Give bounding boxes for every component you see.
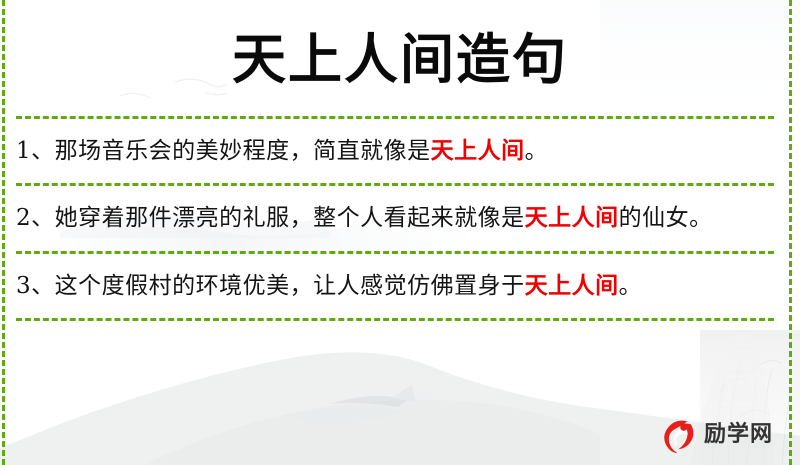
item-text-after: 。 [525, 138, 549, 164]
item-text-before: 她穿着那件漂亮的礼服，整个人看起来就像是 [55, 205, 525, 231]
item-keyword: 天上人间 [525, 272, 619, 299]
item-number: 1、 [16, 138, 55, 164]
sentence-list: 1、那场音乐会的美妙程度，简直就像是天上人间。 2、她穿着那件漂亮的礼服，整个人… [16, 116, 774, 321]
item-text-after: 。 [619, 273, 643, 299]
item-text-before: 这个度假村的环境优美，让人感觉仿佛置身于 [55, 273, 525, 299]
list-item: 2、她穿着那件漂亮的礼服，整个人看起来就像是天上人间的仙女。 [16, 186, 774, 250]
item-number: 3、 [16, 273, 55, 299]
site-name: 励学网 [704, 424, 773, 446]
flame-swirl-logo-icon [660, 416, 698, 454]
list-item: 1、那场音乐会的美妙程度，简直就像是天上人间。 [16, 119, 774, 183]
item-keyword: 天上人间 [525, 204, 619, 231]
item-text-before: 那场音乐会的美妙程度，简直就像是 [55, 138, 431, 164]
title-band: 天上人间造句 [0, 16, 800, 102]
item-number: 2、 [16, 205, 55, 231]
item-text-after: 的仙女。 [619, 205, 713, 231]
list-item: 3、这个度假村的环境优美，让人感觉仿佛置身于天上人间。 [16, 254, 774, 318]
item-keyword: 天上人间 [431, 137, 525, 164]
site-watermark: 励学网 [660, 416, 773, 454]
separator-bottom [16, 318, 774, 321]
page-title: 天上人间造句 [232, 32, 568, 86]
sentence-example-page: 天上人间造句 1、那场音乐会的美妙程度，简直就像是天上人间。 2、她穿着那件漂亮… [0, 0, 800, 465]
